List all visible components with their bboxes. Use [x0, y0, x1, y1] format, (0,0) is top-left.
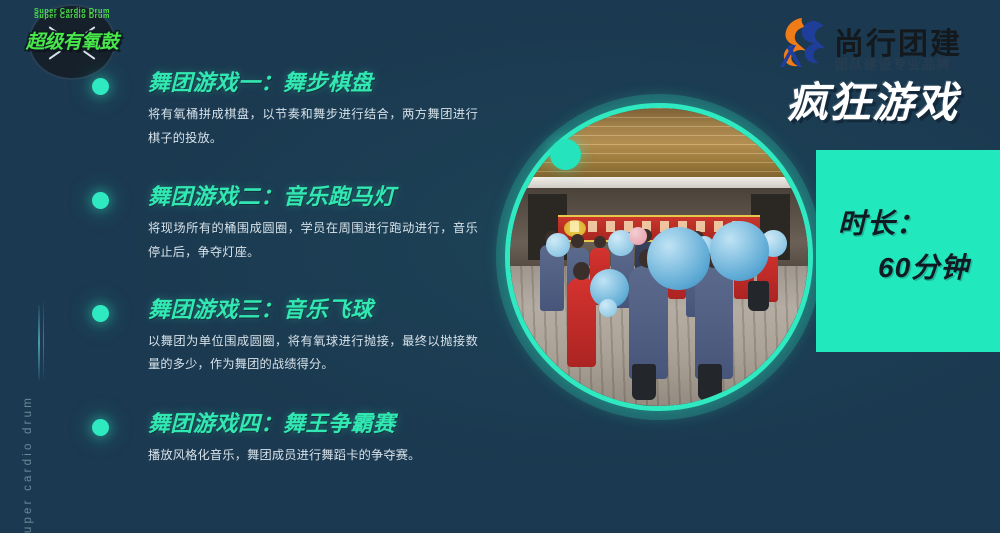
game-description: 将现场所有的桶围成圆圈，学员在周围进行跑动进行，音乐停止后，争夺灯座。	[148, 217, 478, 265]
page-title: 疯狂游戏	[786, 82, 958, 124]
list-item: 舞团游戏二：音乐跑马灯 将现场所有的桶围成圆圈，学员在周围进行跑动进行，音乐停止…	[92, 184, 492, 264]
brand-mark-icon	[772, 15, 828, 69]
game-title: 舞团游戏四：舞王争霸赛	[148, 411, 492, 438]
photo-bucket	[748, 281, 769, 311]
slide-root: Super Cardio Drum Super Cardio Drum 超级有氧…	[0, 0, 1000, 533]
list-item: 舞团游戏三：音乐飞球 以舞团为单位围成圆圈，将有氧球进行抛接，最终以抛接数量的多…	[92, 297, 492, 377]
photo-ball	[629, 227, 647, 245]
photo-bucket	[632, 364, 656, 400]
bullet-dot-icon	[92, 78, 109, 95]
photo-bucket	[698, 364, 722, 400]
accent-dot-icon	[550, 139, 581, 170]
game-description: 以舞团为单位围成圆圈，将有氧球进行抛接，最终以抛接数量的多少，作为舞团的战绩得分…	[148, 330, 478, 378]
game-description: 播放风格化音乐，舞团成员进行舞蹈卡的争夺赛。	[148, 444, 478, 468]
rail-divider	[38, 305, 40, 380]
photo-person-foreground	[695, 266, 734, 379]
game-description: 将有氧桶拼成棋盘，以节奏和舞步进行结合，两方舞团进行棋子的投放。	[148, 103, 478, 151]
brand-subtitle: 团队建设专业品牌	[835, 54, 951, 73]
bullet-dot-icon	[92, 192, 109, 209]
logo-title: 超级有氧鼓	[18, 27, 126, 54]
game-title: 舞团游戏三：音乐飞球	[148, 297, 492, 324]
list-item: 舞团游戏一：舞步棋盘 将有氧桶拼成棋盘，以节奏和舞步进行结合，两方舞团进行棋子的…	[92, 70, 492, 150]
duration-label: 时长：	[838, 202, 925, 242]
photo-ball	[599, 299, 617, 317]
game-title: 舞团游戏二：音乐跑马灯	[148, 184, 492, 211]
bullet-dot-icon	[92, 419, 109, 436]
rail-label: super cardio drum	[22, 395, 34, 533]
super-cardio-drum-logo: Super Cardio Drum Super Cardio Drum 超级有氧…	[18, 6, 126, 78]
photo-ball	[647, 227, 710, 290]
game-list: 舞团游戏一：舞步棋盘 将有氧桶拼成棋盘，以节奏和舞步进行结合，两方舞团进行棋子的…	[92, 70, 492, 494]
list-item: 舞团游戏四：舞王争霸赛 播放风格化音乐，舞团成员进行舞蹈卡的争夺赛。	[92, 411, 492, 468]
rail-divider-secondary	[43, 300, 44, 380]
game-title: 舞团游戏一：舞步棋盘	[148, 70, 492, 97]
bullet-dot-icon	[92, 305, 109, 322]
photo-ball	[546, 233, 570, 257]
photo-ball	[710, 221, 770, 281]
duration-panel: 时长： 60分钟	[816, 150, 1000, 352]
brand-logo: 尚行团建 团队建设专业品牌	[772, 13, 987, 71]
duration-value: 60分钟	[878, 246, 969, 286]
